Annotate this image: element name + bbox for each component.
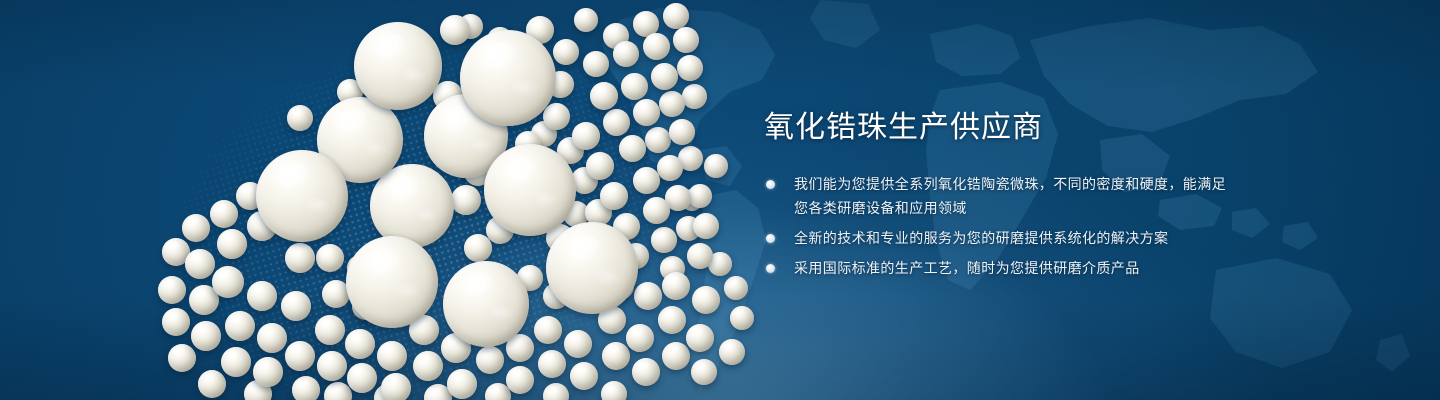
bullet-dot-icon (766, 180, 775, 189)
list-item-label: 我们能为您提供全系列氧化锆陶瓷微珠，不同的密度和硬度，能满足您各类研磨设备和应用… (794, 172, 1234, 220)
list-item-label: 采用国际标准的生产工艺，随时为您提供研磨介质产品 (794, 256, 1234, 280)
banner-copy: 氧化锆珠生产供应商 我们能为您提供全系列氧化锆陶瓷微珠，不同的密度和硬度，能满足… (764, 110, 1234, 286)
hero-banner: 氧化锆珠生产供应商 我们能为您提供全系列氧化锆陶瓷微珠，不同的密度和硬度，能满足… (0, 0, 1440, 400)
list-item-label: 全新的技术和专业的服务为您的研磨提供系统化的解决方案 (794, 226, 1234, 250)
bullet-dot-icon (766, 264, 775, 273)
bullet-dot-icon (766, 234, 775, 243)
list-item: 我们能为您提供全系列氧化锆陶瓷微珠，不同的密度和硬度，能满足您各类研磨设备和应用… (764, 172, 1234, 220)
page-title: 氧化锆珠生产供应商 (764, 110, 1234, 146)
list-item: 全新的技术和专业的服务为您的研磨提供系统化的解决方案 (764, 226, 1234, 250)
list-item: 采用国际标准的生产工艺，随时为您提供研磨介质产品 (764, 256, 1234, 280)
feature-list: 我们能为您提供全系列氧化锆陶瓷微珠，不同的密度和硬度，能满足您各类研磨设备和应用… (764, 172, 1234, 280)
